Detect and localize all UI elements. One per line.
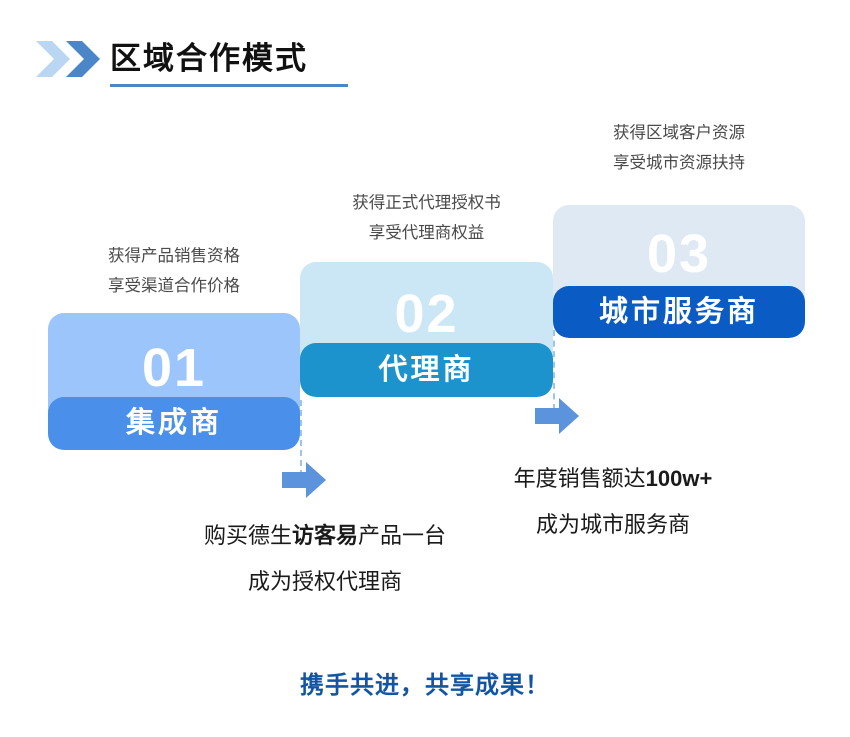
requirement-line-1: 年度销售额达100w+ xyxy=(443,456,783,502)
benefit-caption-step-3: 获得区域客户资源 享受城市资源扶持 xyxy=(553,118,805,178)
step-card-2[interactable]: 02 代理商 xyxy=(300,262,553,397)
arrow-right-icon-2 xyxy=(535,398,579,434)
benefit-line: 获得正式代理授权书 xyxy=(300,188,553,218)
requirement-line-2: 成为授权代理商 xyxy=(125,559,525,605)
requirement-prefix: 年度销售额达 xyxy=(514,466,646,491)
requirement-line-2: 成为城市服务商 xyxy=(443,502,783,548)
chevron-right-icon-light xyxy=(36,41,70,77)
benefit-line: 获得区域客户资源 xyxy=(553,118,805,148)
requirement-highlight: 访客易 xyxy=(292,523,358,548)
chevron-right-icon-dark xyxy=(66,41,100,77)
benefit-line: 享受代理商权益 xyxy=(300,218,553,248)
requirement-suffix: 产品一台 xyxy=(358,523,446,548)
benefit-line: 获得产品销售资格 xyxy=(48,241,300,271)
requirement-caption-2: 年度销售额达100w+ 成为城市服务商 xyxy=(443,456,783,548)
page-header: 区域合作模式 xyxy=(0,0,850,110)
arrow-right-icon-1 xyxy=(282,462,326,498)
infographic-canvas: 区域合作模式 获得产品销售资格 享受渠道合作价格 获得正式代理授权书 享受代理商… xyxy=(0,0,850,737)
step-role-label-3: 城市服务商 xyxy=(599,298,759,327)
requirement-prefix: 购买德生 xyxy=(204,523,292,548)
step-number-1: 01 xyxy=(48,341,300,395)
benefit-line: 享受城市资源扶持 xyxy=(553,148,805,178)
step-role-band-2: 代理商 xyxy=(300,343,553,397)
double-chevron-icon xyxy=(36,41,108,77)
step-number-2: 02 xyxy=(300,287,553,341)
step-role-label-2: 代理商 xyxy=(378,356,474,385)
benefit-caption-step-2: 获得正式代理授权书 享受代理商权益 xyxy=(300,188,553,248)
requirement-highlight: 100w+ xyxy=(646,466,713,491)
closing-slogan: 携手共进，共享成果！ xyxy=(0,670,850,702)
step-card-1[interactable]: 01 集成商 xyxy=(48,313,300,450)
benefit-caption-step-1: 获得产品销售资格 享受渠道合作价格 xyxy=(48,241,300,301)
step-role-band-1: 集成商 xyxy=(48,397,300,450)
step-role-label-1: 集成商 xyxy=(126,409,222,438)
page-title: 区域合作模式 xyxy=(110,40,308,78)
title-underline xyxy=(110,84,348,87)
step-card-3[interactable]: 03 城市服务商 xyxy=(553,205,805,338)
step-number-3: 03 xyxy=(553,227,805,281)
benefit-line: 享受渠道合作价格 xyxy=(48,271,300,301)
step-role-band-3: 城市服务商 xyxy=(553,286,805,338)
